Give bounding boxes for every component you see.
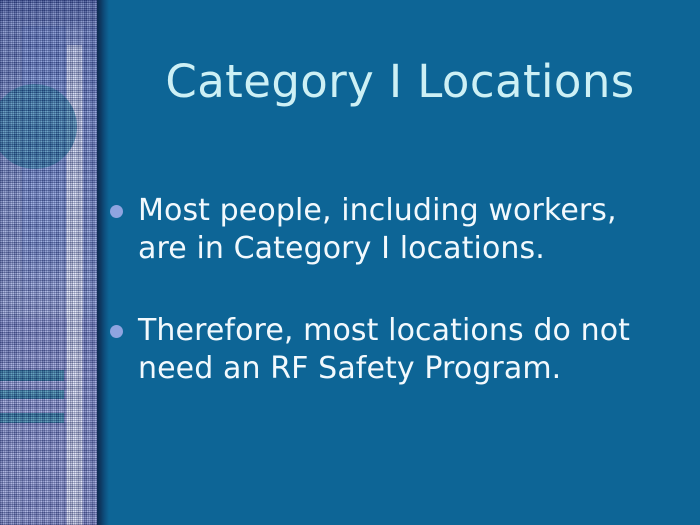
slide-canvas: Category I Locations Most people, includ… <box>0 0 700 525</box>
bullet-item-2-text: Therefore, most locations do not need an… <box>138 312 668 388</box>
bullet-item-1: Most people, including workers, are in C… <box>108 192 668 268</box>
bullet-dot-icon <box>110 325 123 338</box>
left-decorative-band <box>0 0 97 525</box>
band-mottle-texture <box>0 0 97 525</box>
bullet-dot-icon <box>110 205 123 218</box>
slide-body: Most people, including workers, are in C… <box>108 192 668 388</box>
bullet-item-2: Therefore, most locations do not need an… <box>108 312 668 388</box>
slide-title: Category I Locations <box>120 56 680 108</box>
bullet-item-1-text: Most people, including workers, are in C… <box>138 192 668 268</box>
